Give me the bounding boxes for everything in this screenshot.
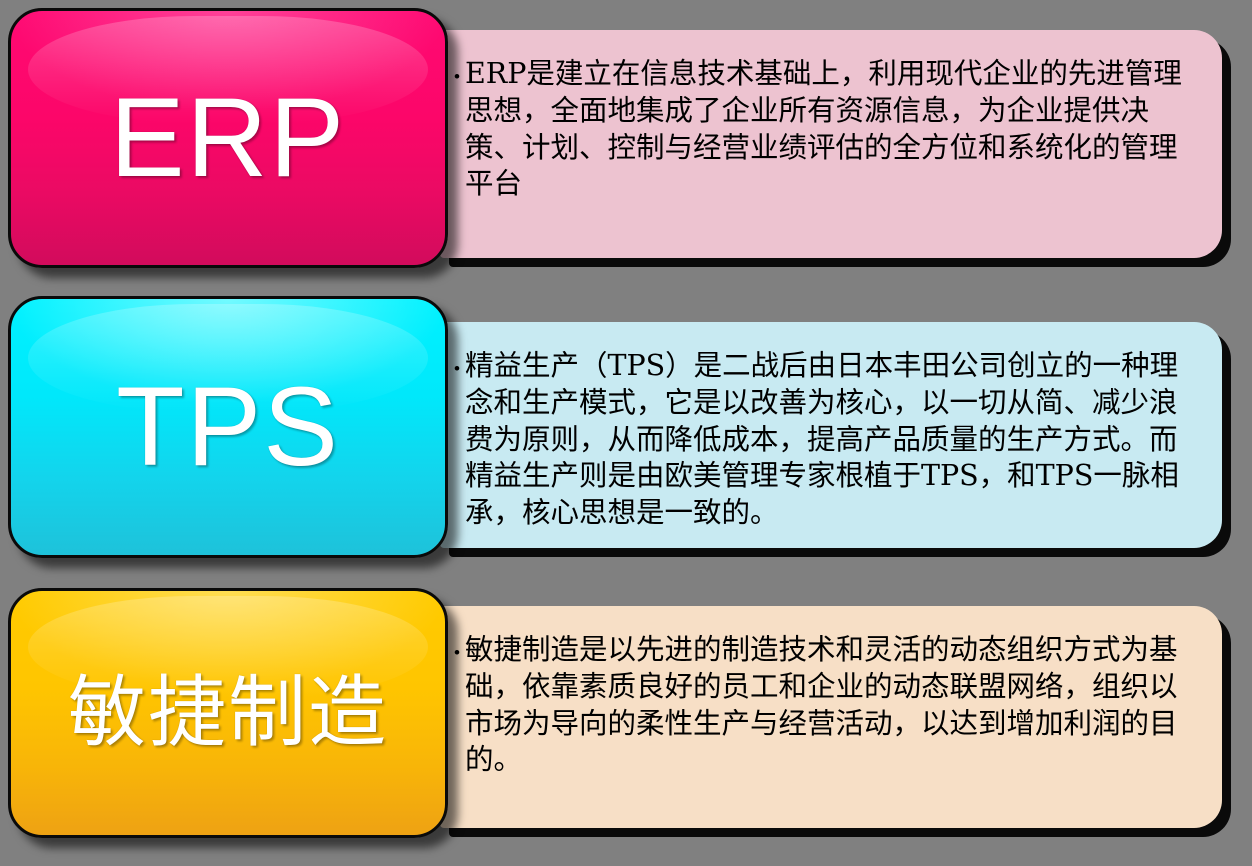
label-text-tps: TPS <box>116 371 340 483</box>
bullet-icon: • <box>454 348 465 377</box>
bullet-icon: • <box>454 632 465 661</box>
label-box-agile[interactable]: 敏捷制造 <box>8 588 448 838</box>
description-panel-erp: • ERP是建立在信息技术基础上，利用现代企业的先进管理思想，全面地集成了企业所… <box>440 30 1222 258</box>
description-text-agile: 敏捷制造是以先进的制造技术和灵活的动态组织方式为基础，依靠素质良好的员工和企业的… <box>465 632 1196 779</box>
description-panel-agile: • 敏捷制造是以先进的制造技术和灵活的动态组织方式为基础，依靠素质良好的员工和企… <box>440 606 1222 828</box>
diagram-canvas: • ERP是建立在信息技术基础上，利用现代企业的先进管理思想，全面地集成了企业所… <box>0 0 1252 866</box>
diagram-row-agile: • 敏捷制造是以先进的制造技术和灵活的动态组织方式为基础，依靠素质良好的员工和企… <box>0 588 1252 840</box>
label-text-agile: 敏捷制造 <box>68 674 388 752</box>
description-panel-tps: • 精益生产（TPS）是二战后由日本丰田公司创立的一种理念和生产模式，它是以改善… <box>440 322 1222 548</box>
diagram-row-tps: • 精益生产（TPS）是二战后由日本丰田公司创立的一种理念和生产模式，它是以改善… <box>0 296 1252 558</box>
label-box-erp[interactable]: ERP <box>8 8 448 268</box>
label-text-erp: ERP <box>110 82 346 194</box>
description-text-tps: 精益生产（TPS）是二战后由日本丰田公司创立的一种理念和生产模式，它是以改善为核… <box>465 348 1196 532</box>
description-text-erp: ERP是建立在信息技术基础上，利用现代企业的先进管理思想，全面地集成了企业所有资… <box>465 56 1196 203</box>
label-box-tps[interactable]: TPS <box>8 296 448 558</box>
bullet-icon: • <box>454 56 465 85</box>
diagram-row-erp: • ERP是建立在信息技术基础上，利用现代企业的先进管理思想，全面地集成了企业所… <box>0 8 1252 268</box>
